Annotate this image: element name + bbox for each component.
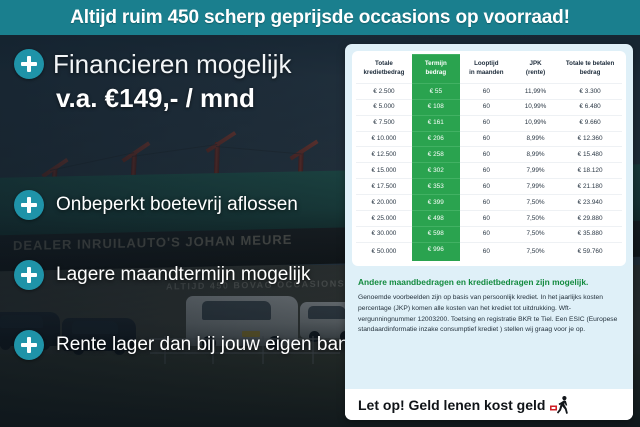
table-header-cell: Looptijdin maanden	[460, 55, 513, 84]
feature-bullet-label: Rente lager dan bij jouw eigen bank	[56, 334, 358, 356]
table-cell: € 302	[412, 163, 460, 179]
legal-warning-bar: Let op! Geld lenen kost geld	[345, 389, 633, 420]
table-cell: € 10.000	[356, 131, 412, 147]
advertisement-banner: DEALER INRUILAUTO'S JOHAN MEURE ALTIJD 4…	[0, 0, 640, 427]
table-cell: 60	[460, 131, 513, 147]
headline-line-1: Financieren mogelijk	[53, 50, 291, 79]
feature-bullet-lagere-maandtermijn-mogelijk: Lagere maandtermijn mogelijk	[14, 260, 311, 290]
rates-table-body: € 2.500€ 556011,99%€ 3.300€ 5.000€ 10860…	[356, 83, 622, 261]
table-cell: 60	[460, 226, 513, 242]
table-cell: € 12.500	[356, 147, 412, 163]
table-cell: € 55	[412, 83, 460, 99]
feature-bullet-rente-lager-dan-bij-jouw-eigen-bank: Rente lager dan bij jouw eigen bank	[14, 330, 358, 360]
table-row: € 12.500€ 258608,99%€ 15.480	[356, 147, 622, 163]
rates-table: TotalekredietbedragTermijnbedragLooptijd…	[356, 54, 622, 261]
table-row: € 7.500€ 1616010,99%€ 9.660	[356, 115, 622, 131]
table-cell: 60	[460, 242, 513, 261]
table-cell: € 59.760	[558, 242, 622, 261]
table-cell: € 15.480	[558, 147, 622, 163]
table-cell: 60	[460, 115, 513, 131]
table-cell: 60	[460, 195, 513, 211]
feature-bullet-label: Lagere maandtermijn mogelijk	[56, 264, 311, 286]
table-cell: € 17.500	[356, 179, 412, 195]
table-cell: € 3.300	[558, 83, 622, 99]
promo-banner: Altijd ruim 450 scherp geprijsde occasio…	[0, 0, 640, 35]
table-cell: 60	[460, 210, 513, 226]
table-cell: € 996	[412, 242, 460, 261]
table-cell: 8,99%	[513, 147, 558, 163]
headline-block: Financieren mogelijk v.a. €149,- / mnd	[14, 49, 340, 113]
table-cell: 60	[460, 99, 513, 115]
legal-warning-text: Let op! Geld lenen kost geld	[358, 397, 545, 413]
table-row: € 25.000€ 498607,50%€ 29.880	[356, 210, 622, 226]
table-cell: 60	[460, 179, 513, 195]
table-row: € 15.000€ 302607,99%€ 18.120	[356, 163, 622, 179]
plus-icon	[14, 260, 44, 290]
finance-info-card: TotalekredietbedragTermijnbedragLooptijd…	[345, 44, 633, 420]
plus-icon	[14, 190, 44, 220]
table-cell: € 23.940	[558, 195, 622, 211]
table-cell: 7,50%	[513, 195, 558, 211]
table-cell: € 206	[412, 131, 460, 147]
table-cell: 8,99%	[513, 131, 558, 147]
headline-row: Financieren mogelijk	[14, 49, 340, 79]
table-cell: € 7.500	[356, 115, 412, 131]
table-cell: € 25.000	[356, 210, 412, 226]
rates-table-container: TotalekredietbedragTermijnbedragLooptijd…	[352, 51, 626, 266]
disclaimer-title: Andere maandbedragen en kredietbedragen …	[358, 277, 620, 288]
table-cell: € 598	[412, 226, 460, 242]
rates-table-header: TotalekredietbedragTermijnbedragLooptijd…	[356, 55, 622, 84]
table-cell: € 498	[412, 210, 460, 226]
table-cell: € 6.480	[558, 99, 622, 115]
table-cell: € 21.180	[558, 179, 622, 195]
table-cell: 7,99%	[513, 163, 558, 179]
table-cell: € 5.000	[356, 99, 412, 115]
plus-icon	[14, 49, 44, 79]
table-row: € 50.000€ 996607,50%€ 59.760	[356, 242, 622, 261]
table-cell: 11,99%	[513, 83, 558, 99]
table-cell: 7,50%	[513, 226, 558, 242]
table-cell: € 50.000	[356, 242, 412, 261]
disclaimer-note: Andere maandbedragen en kredietbedragen …	[345, 266, 633, 336]
table-cell: € 9.660	[558, 115, 622, 131]
table-header-cell: Totalekredietbedrag	[356, 55, 412, 84]
promo-banner-text: Altijd ruim 450 scherp geprijsde occasio…	[70, 7, 570, 29]
table-row: € 10.000€ 206608,99%€ 12.360	[356, 131, 622, 147]
table-cell: € 2.500	[356, 83, 412, 99]
table-cell: € 20.000	[356, 195, 412, 211]
table-cell: 60	[460, 163, 513, 179]
table-cell: € 29.880	[558, 210, 622, 226]
table-row: € 2.500€ 556011,99%€ 3.300	[356, 83, 622, 99]
table-cell: 7,50%	[513, 242, 558, 261]
table-cell: € 12.360	[558, 131, 622, 147]
table-cell: € 108	[412, 99, 460, 115]
walking-person-warning-icon	[550, 395, 572, 415]
table-row: € 30.000€ 598607,50%€ 35.880	[356, 226, 622, 242]
table-cell: € 353	[412, 179, 460, 195]
table-cell: 7,99%	[513, 179, 558, 195]
table-cell: € 18.120	[558, 163, 622, 179]
table-header-cell: Termijnbedrag	[412, 55, 460, 84]
table-row: € 20.000€ 399607,50%€ 23.940	[356, 195, 622, 211]
table-cell: 60	[460, 83, 513, 99]
table-cell: € 15.000	[356, 163, 412, 179]
table-header-row: TotalekredietbedragTermijnbedragLooptijd…	[356, 55, 622, 84]
table-header-cell: JPK(rente)	[513, 55, 558, 84]
table-row: € 17.500€ 353607,99%€ 21.180	[356, 179, 622, 195]
headline-line-2: v.a. €149,- / mnd	[56, 84, 340, 113]
table-cell: € 399	[412, 195, 460, 211]
feature-bullet-onbeperkt-boetevrij-aflossen: Onbeperkt boetevrij aflossen	[14, 190, 298, 220]
disclaimer-body: Genoemde voorbeelden zijn op basis van p…	[358, 293, 620, 336]
left-content: Financieren mogelijk v.a. €149,- / mnd O…	[0, 35, 348, 427]
table-cell: € 30.000	[356, 226, 412, 242]
table-row: € 5.000€ 1086010,99%€ 6.480	[356, 99, 622, 115]
feature-bullet-label: Onbeperkt boetevrij aflossen	[56, 194, 298, 216]
table-cell: 10,99%	[513, 115, 558, 131]
table-cell: 60	[460, 147, 513, 163]
table-cell: € 161	[412, 115, 460, 131]
table-cell: 10,99%	[513, 99, 558, 115]
table-cell: € 258	[412, 147, 460, 163]
plus-icon	[14, 330, 44, 360]
table-header-cell: Totale te betalen bedrag	[558, 55, 622, 84]
table-cell: 7,50%	[513, 210, 558, 226]
table-cell: € 35.880	[558, 226, 622, 242]
